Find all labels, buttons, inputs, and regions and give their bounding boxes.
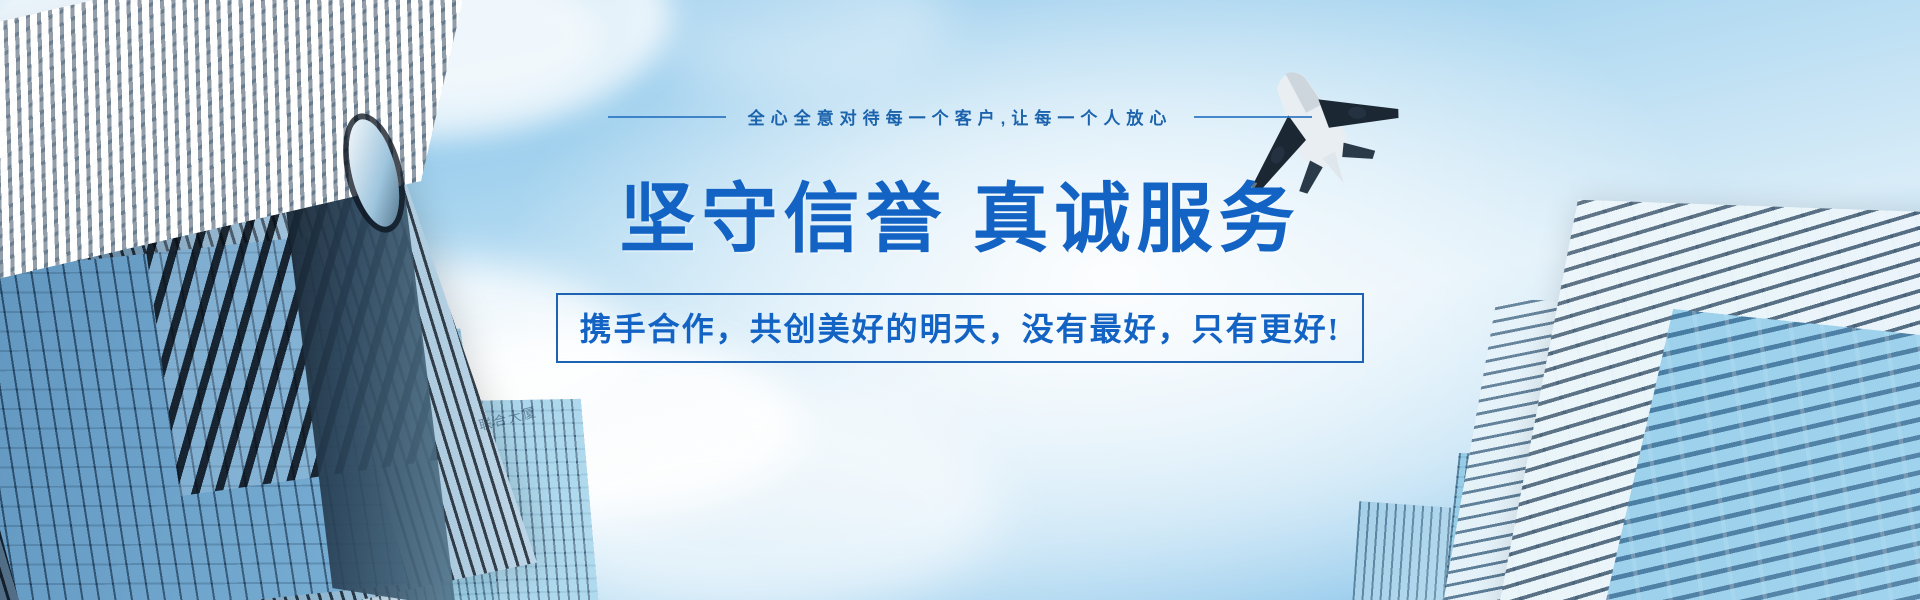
decorative-rule-right-icon [1194, 116, 1312, 118]
banner-text-block: 全心全意对待每一个客户,让每一个人放心 坚守信誉 真诚服务 携手合作，共创美好的… [0, 0, 1920, 600]
decorative-rule-left-icon [608, 116, 726, 118]
hero-banner: 联合大厦 [0, 0, 1920, 600]
eyebrow-row: 全心全意对待每一个客户,让每一个人放心 [608, 104, 1313, 129]
banner-eyebrow-text: 全心全意对待每一个客户,让每一个人放心 [748, 104, 1173, 129]
banner-subtitle-box: 携手合作，共创美好的明天，没有最好，只有更好! [556, 293, 1365, 363]
banner-headline: 坚守信誉 真诚服务 [620, 157, 1301, 267]
banner-subtitle: 携手合作，共创美好的明天，没有最好，只有更好! [580, 304, 1341, 350]
